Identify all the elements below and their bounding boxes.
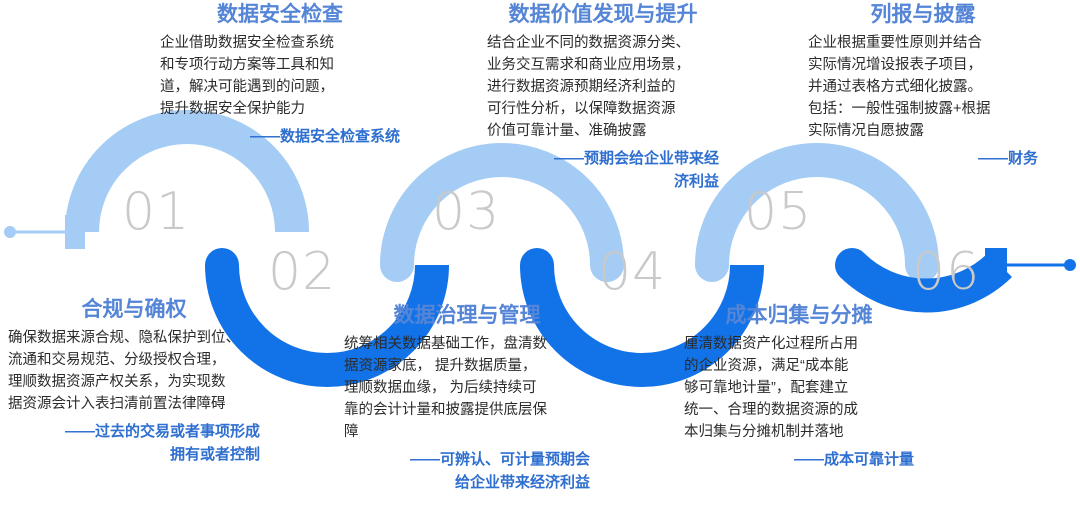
wave-start-stub [65,215,85,249]
step-title-04: 数据价值发现与提升 [487,2,719,28]
step-title-06: 列报与披露 [808,2,1038,28]
step-body-03: 统筹相关数据基础工作，盘清数 据资源家底， 提升数据质量， 理顺数据血缘， 为后… [344,333,590,443]
step-body-02: 企业借助数据安全检查系统 和专项行动方案等工具和知 道，解决可能遇到的问题， 提… [160,32,400,120]
step-note-05: ——成本可靠计量 [684,449,914,472]
wave-cap-dark-a [205,248,239,282]
step-body-01: 确保数据来源合规、隐私保护到位、 流通和交易规范、分级授权合理， 理顺数据资源产… [8,327,260,415]
step-note-04: ——预期会给企业带来经 济利益 [487,148,719,193]
step-title-02: 数据安全检查 [160,2,400,28]
step-block-03: 数据治理与管理 统筹相关数据基础工作，盘清数 据资源家底， 提升数据质量， 理顺… [344,303,590,494]
step-number-05: 05 [744,186,812,238]
step-block-02: 数据安全检查 企业借助数据安全检查系统 和专项行动方案等工具和知 道，解决可能遇… [160,2,400,149]
step-note-03: ——可辨认、可计量预期会 给企业带来经济利益 [344,449,590,494]
step-title-05: 成本归集与分摊 [684,303,914,329]
wave-cap-dark-b [520,248,554,282]
step-number-06: 06 [912,246,980,298]
step-body-05: 厘清数据资产化过程所占用 的企业资源，满足“成本能 够可靠地计量”，配套建立 统… [684,333,914,443]
step-number-02: 02 [268,246,336,298]
wave-cap-light-a [380,248,414,282]
step-number-01: 01 [122,186,190,238]
step-block-05: 成本归集与分摊 厘清数据资产化过程所占用 的企业资源，满足“成本能 够可靠地计量… [684,303,914,472]
infographic-canvas: 01 02 03 04 05 06 数据安全检查 企业借助数据安全检查系统 和专… [0,0,1080,510]
step-title-01: 合规与确权 [8,297,260,323]
step-note-01: ——过去的交易或者事项形成 拥有或者控制 [8,421,260,466]
step-number-04: 04 [598,246,666,298]
step-note-02: ——数据安全检查系统 [160,126,400,149]
step-body-06: 企业根据重要性原则并结合 实际情况增设报表子项目， 并通过表格方式细化披露。 包… [808,32,1038,142]
step-title-03: 数据治理与管理 [344,303,590,329]
wave-end-connector [985,248,1076,282]
wave-end-stub [985,248,1007,282]
step-note-06: ——财务 [808,148,1038,171]
step-block-01: 合规与确权 确保数据来源合规、隐私保护到位、 流通和交易规范、分级授权合理， 理… [8,297,260,466]
wave-end-dot [1064,259,1076,271]
step-block-04: 数据价值发现与提升 结合企业不同的数据资源分类、 业务交互需求和商业应用场景， … [487,2,719,193]
wave-start-dot [4,226,16,238]
step-block-06: 列报与披露 企业根据重要性原则并结合 实际情况增设报表子项目， 并通过表格方式细… [808,2,1038,171]
wave-start-connector [4,215,85,249]
wave-cap-light-c [695,248,729,282]
step-number-03: 03 [432,186,500,238]
wave-cap-dark-c [835,248,869,282]
step-body-04: 结合企业不同的数据资源分类、 业务交互需求和商业应用场景， 进行数据资源预期经济… [487,32,719,142]
